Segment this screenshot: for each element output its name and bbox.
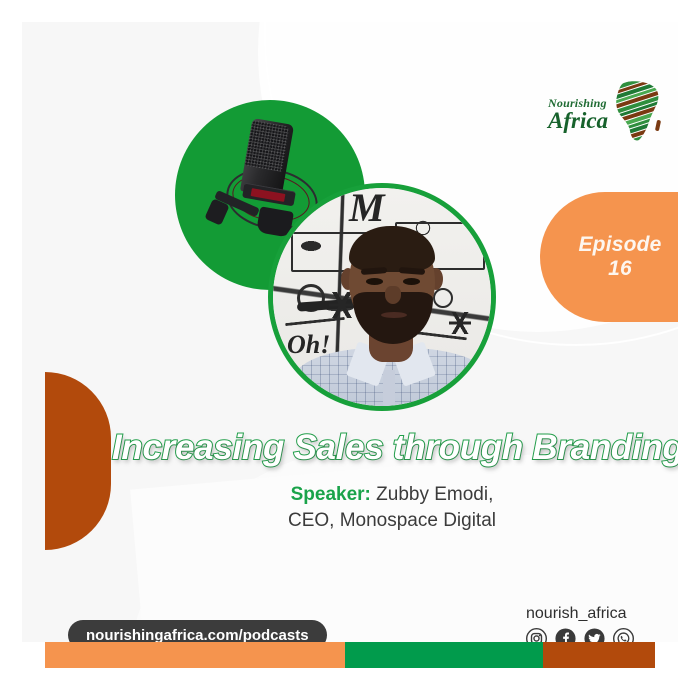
website-url-text: nourishingafrica.com/podcasts (86, 627, 309, 643)
bottom-bar-green-segment (345, 642, 543, 668)
speaker-label: Speaker: (291, 484, 371, 505)
instagram-icon[interactable] (526, 628, 547, 642)
episode-label: Episode (578, 233, 661, 257)
bottom-bar-orange-segment (45, 642, 345, 668)
speaker-role: CEO, Monospace Digital (142, 508, 642, 534)
speaker-name: Zubby Emodi, (376, 484, 493, 505)
twitter-icon[interactable] (584, 628, 605, 642)
bottom-color-bar (45, 642, 655, 668)
episode-number: 16 (608, 257, 632, 281)
podcast-episode-poster: M D Oh! H (0, 0, 700, 700)
speaker-photo: M D Oh! H (268, 183, 496, 411)
whatsapp-icon[interactable] (613, 628, 634, 642)
speaker-figure (273, 188, 491, 406)
nourishing-africa-logo[interactable]: Nourishing Africa (548, 80, 664, 152)
poster-canvas: M D Oh! H (22, 22, 678, 642)
bottom-bar-brown-segment (543, 642, 655, 668)
page-title: Increasing Sales through Branding (112, 428, 672, 468)
social-handle: nourish_africa (526, 605, 634, 623)
decor-brown-half-circle (45, 372, 111, 550)
africa-map-icon (612, 80, 664, 142)
episode-badge: Episode 16 (540, 192, 678, 322)
social-block: nourish_africa (526, 605, 634, 642)
facebook-icon[interactable] (555, 628, 576, 642)
website-url-pill[interactable]: nourishingafrica.com/podcasts (68, 620, 327, 642)
social-icon-row (526, 628, 634, 642)
speaker-credit: Speaker: Zubby Emodi, CEO, Monospace Dig… (142, 482, 642, 533)
